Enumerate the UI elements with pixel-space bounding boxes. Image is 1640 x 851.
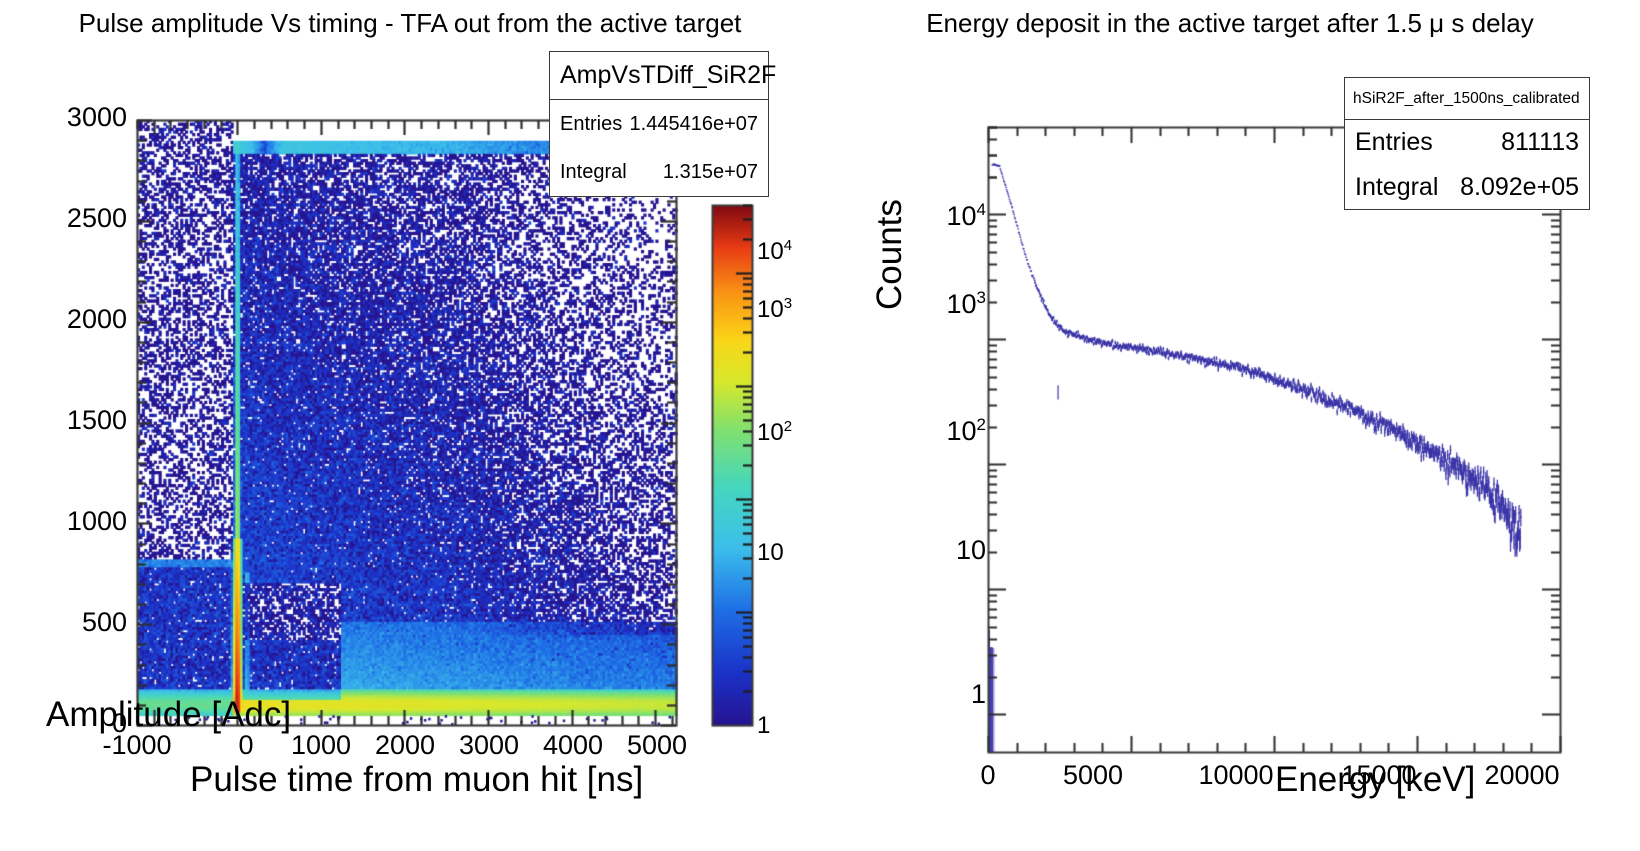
stats-value: 1.315e+07 <box>663 161 758 184</box>
x-tick-label: 15000 <box>1324 760 1434 791</box>
y-tick-label: 103 <box>880 288 986 320</box>
stats-value: 8.092e+05 <box>1460 173 1579 202</box>
y-tick-label: 3000 <box>24 102 127 133</box>
y-tick-label: 1 <box>898 679 986 710</box>
y-tick-label: 1000 <box>24 506 127 537</box>
x-tick-label: 5000 <box>1038 760 1148 791</box>
stats-row-integral: Integral 8.092e+05 <box>1345 165 1589 210</box>
x-tick-label: 5000 <box>602 730 712 761</box>
stats-value: 1.445416e+07 <box>630 113 758 136</box>
colorbar-tick-label: 103 <box>757 295 792 324</box>
y-tick-label: 500 <box>24 607 127 638</box>
colorbar-tick-label: 104 <box>757 237 792 266</box>
colorbar-tick-label: 1 <box>757 712 770 740</box>
stats-box-title: AmpVsTDiff_SiR2F <box>550 52 768 100</box>
stats-box-right[interactable]: hSiR2F_after_1500ns_calibrated Entries 8… <box>1344 77 1590 210</box>
stats-box-title: hSiR2F_after_1500ns_calibrated <box>1345 78 1589 120</box>
stats-row-entries: Entries 1.445416e+07 <box>550 100 768 148</box>
x-tick-label: 10000 <box>1181 760 1291 791</box>
stats-key: Entries <box>1355 128 1433 157</box>
stats-box-left[interactable]: AmpVsTDiff_SiR2F Entries 1.445416e+07 In… <box>549 51 769 197</box>
stats-row-entries: Entries 811113 <box>1345 120 1589 165</box>
y-tick-label: 102 <box>880 415 986 447</box>
y-tick-label: 2000 <box>24 304 127 335</box>
x-tick-label: 20000 <box>1467 760 1577 791</box>
stats-key: Entries <box>560 113 622 136</box>
x-axis-label-left: Pulse time from muon hit [ns] <box>190 760 643 800</box>
stats-value: 811113 <box>1501 128 1579 157</box>
stats-key: Integral <box>560 161 627 184</box>
y-tick-label: 0 <box>24 708 127 739</box>
page-title-left: Pulse amplitude Vs timing - TFA out from… <box>0 8 820 39</box>
y-tick-label: 10 <box>898 535 986 566</box>
page-title-right: Energy deposit in the active target afte… <box>820 8 1640 39</box>
y-tick-label: 104 <box>880 200 986 232</box>
panel-pulse-amplitude-vs-timing: Pulse amplitude Vs timing - TFA out from… <box>0 0 820 851</box>
stats-row-integral: Integral 1.315e+07 <box>550 148 768 196</box>
colorbar-tick-label: 102 <box>757 418 792 447</box>
y-tick-label: 1500 <box>24 405 127 436</box>
panel-energy-deposit: Energy deposit in the active target afte… <box>820 0 1640 851</box>
y-tick-label: 2500 <box>24 203 127 234</box>
colorbar-tick-label: 10 <box>757 539 784 567</box>
stats-key: Integral <box>1355 173 1438 202</box>
x-tick-label: 0 <box>933 760 1043 791</box>
